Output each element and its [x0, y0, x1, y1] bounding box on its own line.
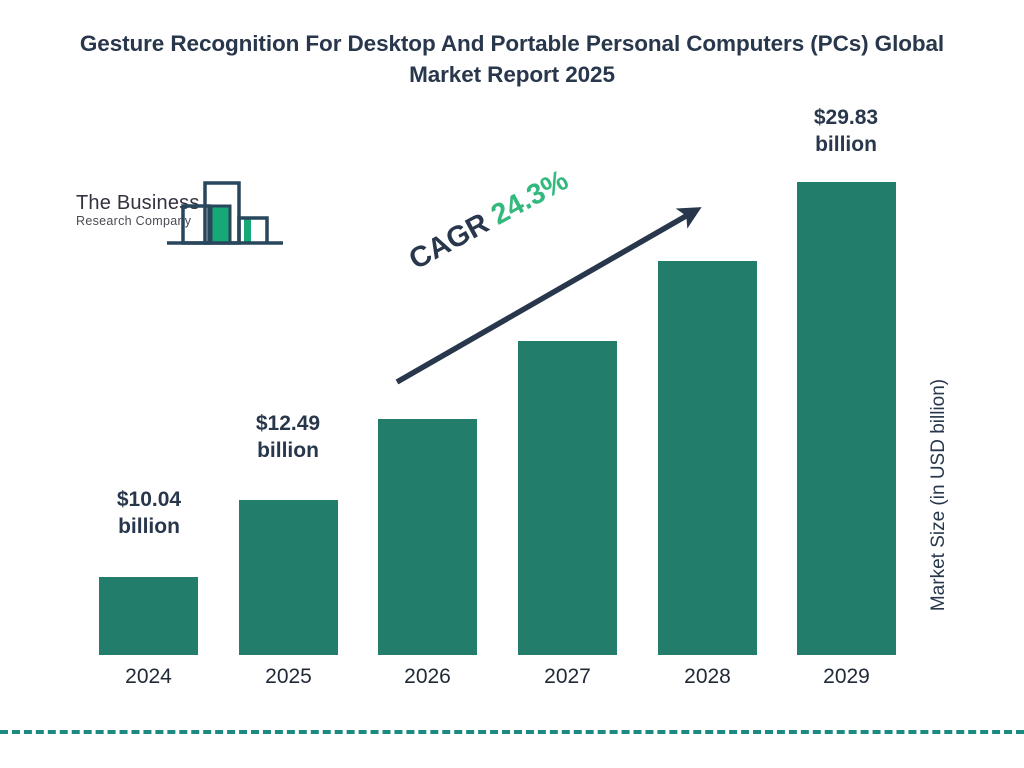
chart-page: Gesture Recognition For Desktop And Port… [0, 0, 1024, 768]
x-tick-2029: 2029 [797, 664, 896, 690]
bar-2025 [239, 500, 338, 655]
company-logo: The Business Research Company [72, 176, 284, 248]
bar-2028 [658, 261, 757, 655]
cagr-annotation: CAGR 24.3% [404, 164, 574, 277]
x-tick-2028: 2028 [658, 664, 757, 690]
bar-2029 [797, 182, 896, 655]
logo-bars-icon [72, 176, 284, 248]
bar-value-label-2024: $10.04 billion [55, 486, 243, 540]
page-title: Gesture Recognition For Desktop And Port… [62, 28, 962, 90]
footer-divider [0, 730, 1024, 734]
x-tick-2025: 2025 [239, 664, 338, 690]
bar-2027 [518, 341, 617, 655]
cagr-value: 24.3% [486, 164, 574, 231]
x-tick-2027: 2027 [518, 664, 617, 690]
x-tick-2024: 2024 [99, 664, 198, 690]
cagr-label: CAGR [404, 207, 494, 276]
bar-value-label-2025: $12.49 billion [194, 410, 382, 464]
bar-2024 [99, 577, 198, 655]
bar-2026 [378, 419, 477, 655]
x-tick-2026: 2026 [378, 664, 477, 690]
y-axis-title: Market Size (in USD billion) [928, 330, 950, 660]
bar-value-label-2029: $29.83 billion [752, 104, 940, 158]
